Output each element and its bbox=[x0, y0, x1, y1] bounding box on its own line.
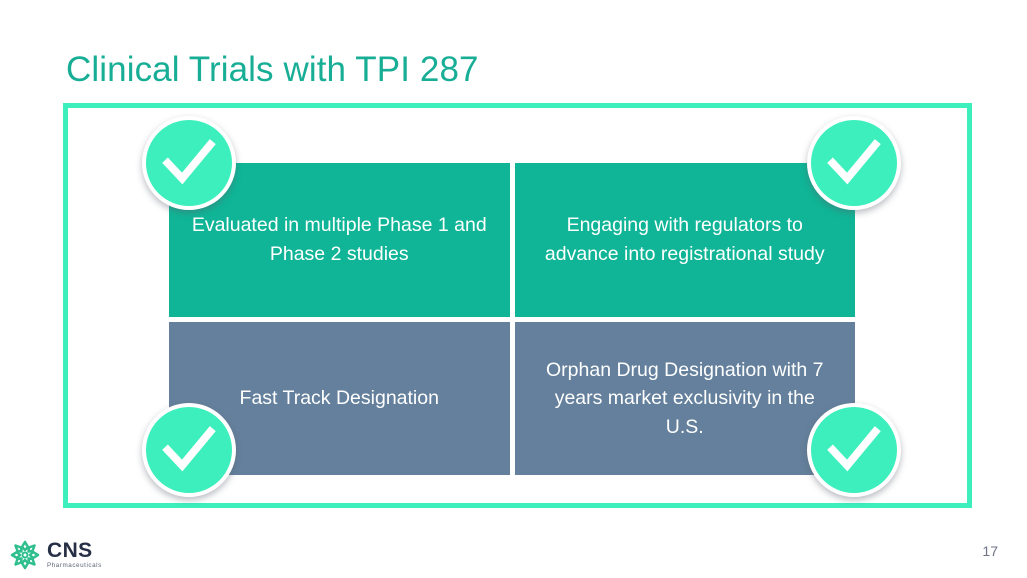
quadrant-engaging-regulators: Engaging with regulators to advance into… bbox=[515, 163, 856, 317]
logo-wordmark: CNS Pharmaceuticals bbox=[47, 540, 102, 569]
logo-name: CNS bbox=[47, 540, 102, 561]
quadrant-text: Evaluated in multiple Phase 1 and Phase … bbox=[191, 211, 488, 268]
check-badge-bottom-right bbox=[807, 403, 901, 497]
check-icon bbox=[158, 419, 220, 481]
check-badge-bottom-left bbox=[142, 403, 236, 497]
check-badge-top-left bbox=[142, 116, 236, 210]
slide-canvas: Clinical Trials with TPI 287 Evaluated i… bbox=[0, 0, 1027, 578]
check-icon bbox=[823, 419, 885, 481]
cns-starburst-icon bbox=[9, 539, 41, 571]
quadrant-orphan-drug-designation: Orphan Drug Designation with 7 years mar… bbox=[515, 322, 856, 476]
check-icon bbox=[823, 132, 885, 194]
quadrant-text: Orphan Drug Designation with 7 years mar… bbox=[537, 356, 834, 442]
cns-logo: CNS Pharmaceuticals bbox=[9, 539, 102, 571]
quadrant-text: Fast Track Designation bbox=[240, 384, 439, 413]
check-icon bbox=[158, 132, 220, 194]
quadrant-text: Engaging with regulators to advance into… bbox=[537, 211, 834, 268]
page-number: 17 bbox=[982, 543, 998, 559]
quadrant-grid: Evaluated in multiple Phase 1 and Phase … bbox=[169, 163, 855, 475]
check-badge-top-right bbox=[807, 116, 901, 210]
page-title: Clinical Trials with TPI 287 bbox=[66, 47, 479, 93]
logo-tagline: Pharmaceuticals bbox=[47, 563, 102, 569]
